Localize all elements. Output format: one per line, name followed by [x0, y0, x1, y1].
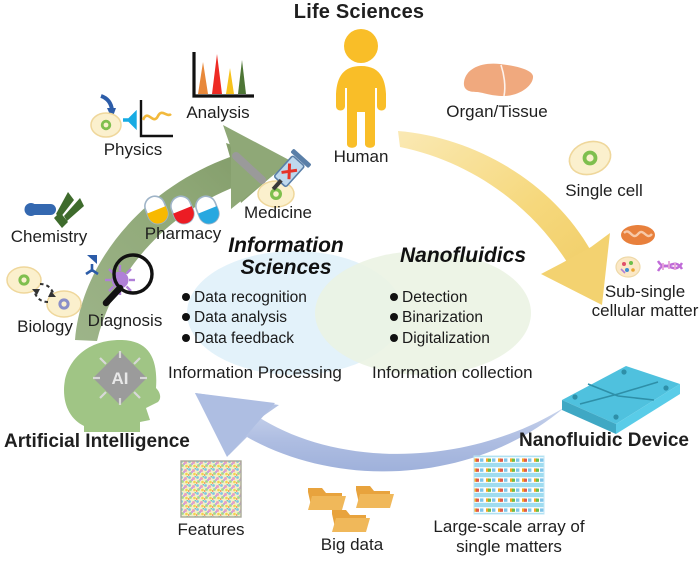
liver-icon	[460, 60, 536, 102]
mitochondrion-icon	[621, 225, 655, 245]
label-sub-single-line1: Sub-single	[605, 283, 685, 301]
venn-title-line2: Sciences	[196, 257, 376, 279]
svg-text:AI: AI	[112, 369, 129, 388]
heading-life-sciences: Life Sciences	[294, 2, 424, 24]
dna-helix-icon	[658, 261, 682, 271]
label-features: Features	[177, 521, 244, 539]
bullet-dot-icon	[182, 293, 190, 301]
label-human: Human	[334, 148, 389, 166]
bullet-dot-icon	[390, 334, 398, 342]
venn-bullets-information-sciences: Data recognition Data analysis Data feed…	[182, 288, 307, 349]
single-cell-icon	[562, 135, 618, 181]
venn-title-information-sciences: Information Sciences	[196, 235, 376, 279]
ai-chip-icon: AI	[93, 351, 147, 405]
label-analysis: Analysis	[186, 104, 249, 122]
human-figure-icon	[330, 28, 392, 148]
venn-bullets-nanofluidics: Detection Binarization Digitalization	[390, 288, 490, 349]
syringe-cell-icon	[232, 148, 322, 210]
bullet-item: Binarization	[390, 308, 490, 328]
antibody-icon	[22, 188, 96, 230]
venn-title-nanofluidics: Nanofluidics	[378, 245, 548, 267]
folder-icon	[308, 488, 346, 510]
bullet-dot-icon	[390, 313, 398, 321]
nanofluidic-device-icon	[558, 352, 684, 434]
label-array-line2: single matters	[456, 538, 562, 556]
bullet-item: Digitalization	[390, 329, 490, 349]
feature-map-icon	[180, 460, 242, 518]
folders-icon	[306, 480, 398, 536]
bullet-item: Data recognition	[182, 288, 307, 308]
label-biology: Biology	[17, 318, 73, 336]
bullet-item: Detection	[390, 288, 490, 308]
vesicle-icon	[616, 257, 640, 277]
bullet-dot-icon	[390, 293, 398, 301]
bullet-text: Data recognition	[194, 289, 307, 306]
label-physics: Physics	[104, 141, 163, 159]
label-sub-single-line2: cellular matter	[592, 302, 699, 320]
folder-icon	[332, 510, 370, 532]
single-matter-array-icon	[473, 455, 545, 515]
peak-chart-icon	[182, 48, 258, 106]
heading-artificial-intelligence: Artificial Intelligence	[4, 432, 190, 453]
ai-head-icon: AI	[62, 338, 186, 434]
label-array-line1: Large-scale array of	[433, 518, 584, 536]
label-big-data: Big data	[321, 536, 383, 554]
bullet-text: Data feedback	[194, 330, 294, 347]
bullet-text: Digitalization	[402, 330, 490, 347]
bullet-text: Binarization	[402, 309, 483, 326]
label-medicine: Medicine	[244, 204, 312, 222]
capsule-pills-icon	[143, 193, 221, 227]
cell-probe-signal-icon	[85, 92, 175, 144]
venn-title-line1: Information	[196, 235, 376, 257]
bullet-dot-icon	[182, 313, 190, 321]
bullet-item: Data analysis	[182, 308, 307, 328]
organelle-dna-icon	[608, 225, 700, 287]
caption-information-processing: Information Processing	[168, 364, 342, 382]
heading-nanofluidic-device: Nanofluidic Device	[519, 431, 689, 452]
label-organ-tissue: Organ/Tissue	[446, 103, 547, 121]
caption-information-collection: Information collection	[372, 364, 533, 382]
figure-canvas: Life Sciences Human Analysis Physics Che…	[0, 0, 700, 564]
bullet-item: Data feedback	[182, 329, 307, 349]
bullet-text: Detection	[402, 289, 467, 306]
folder-icon	[356, 486, 394, 508]
label-diagnosis: Diagnosis	[88, 312, 163, 330]
label-single-cell: Single cell	[565, 182, 643, 200]
bullet-text: Data analysis	[194, 309, 287, 326]
magnifier-virus-icon	[78, 248, 168, 312]
label-chemistry: Chemistry	[11, 228, 88, 246]
